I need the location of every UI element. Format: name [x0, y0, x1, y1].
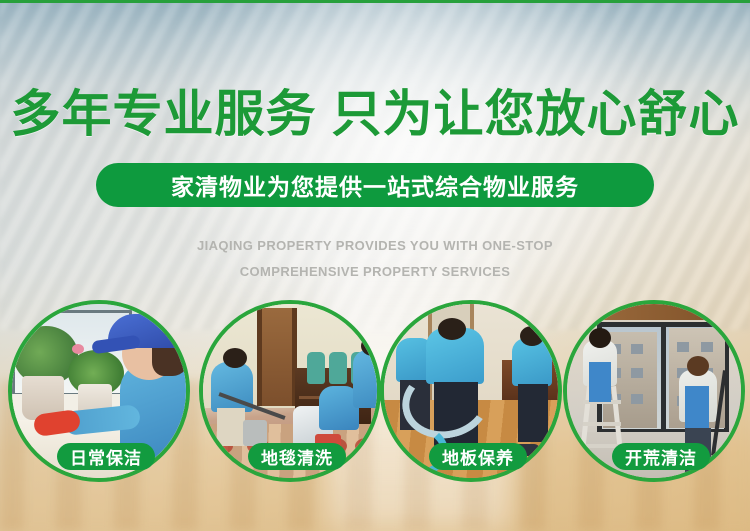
service-label-post-construction-cleaning: 开荒清洁: [612, 443, 710, 470]
english-subtitle-line-1: JIAQING PROPERTY PROVIDES YOU WITH ONE-S…: [0, 233, 750, 259]
service-label-carpet-cleaning: 地毯清洗: [248, 443, 346, 470]
english-subtitle-line-2: COMPREHENSIVE PROPERTY SERVICES: [0, 259, 750, 285]
service-label-text: 地板保养: [442, 444, 514, 469]
promo-banner: 多年专业服务 只为让您放心舒心 家清物业为您提供一站式综合物业服务 JIAQIN…: [0, 0, 750, 531]
service-label-text: 日常保洁: [70, 444, 142, 469]
top-rule: [0, 0, 750, 3]
english-subtitle: JIAQING PROPERTY PROVIDES YOU WITH ONE-S…: [0, 233, 750, 285]
page-title: 多年专业服务 只为让您放心舒心: [0, 86, 750, 142]
service-label-text: 地毯清洗: [261, 444, 333, 469]
service-label-text: 开荒清洁: [625, 444, 697, 469]
subtitle-pill: 家清物业为您提供一站式综合物业服务: [96, 163, 654, 207]
service-label-daily-cleaning: 日常保洁: [57, 443, 155, 470]
subtitle-text: 家清物业为您提供一站式综合物业服务: [171, 168, 579, 202]
service-label-floor-maintenance: 地板保养: [429, 443, 527, 470]
